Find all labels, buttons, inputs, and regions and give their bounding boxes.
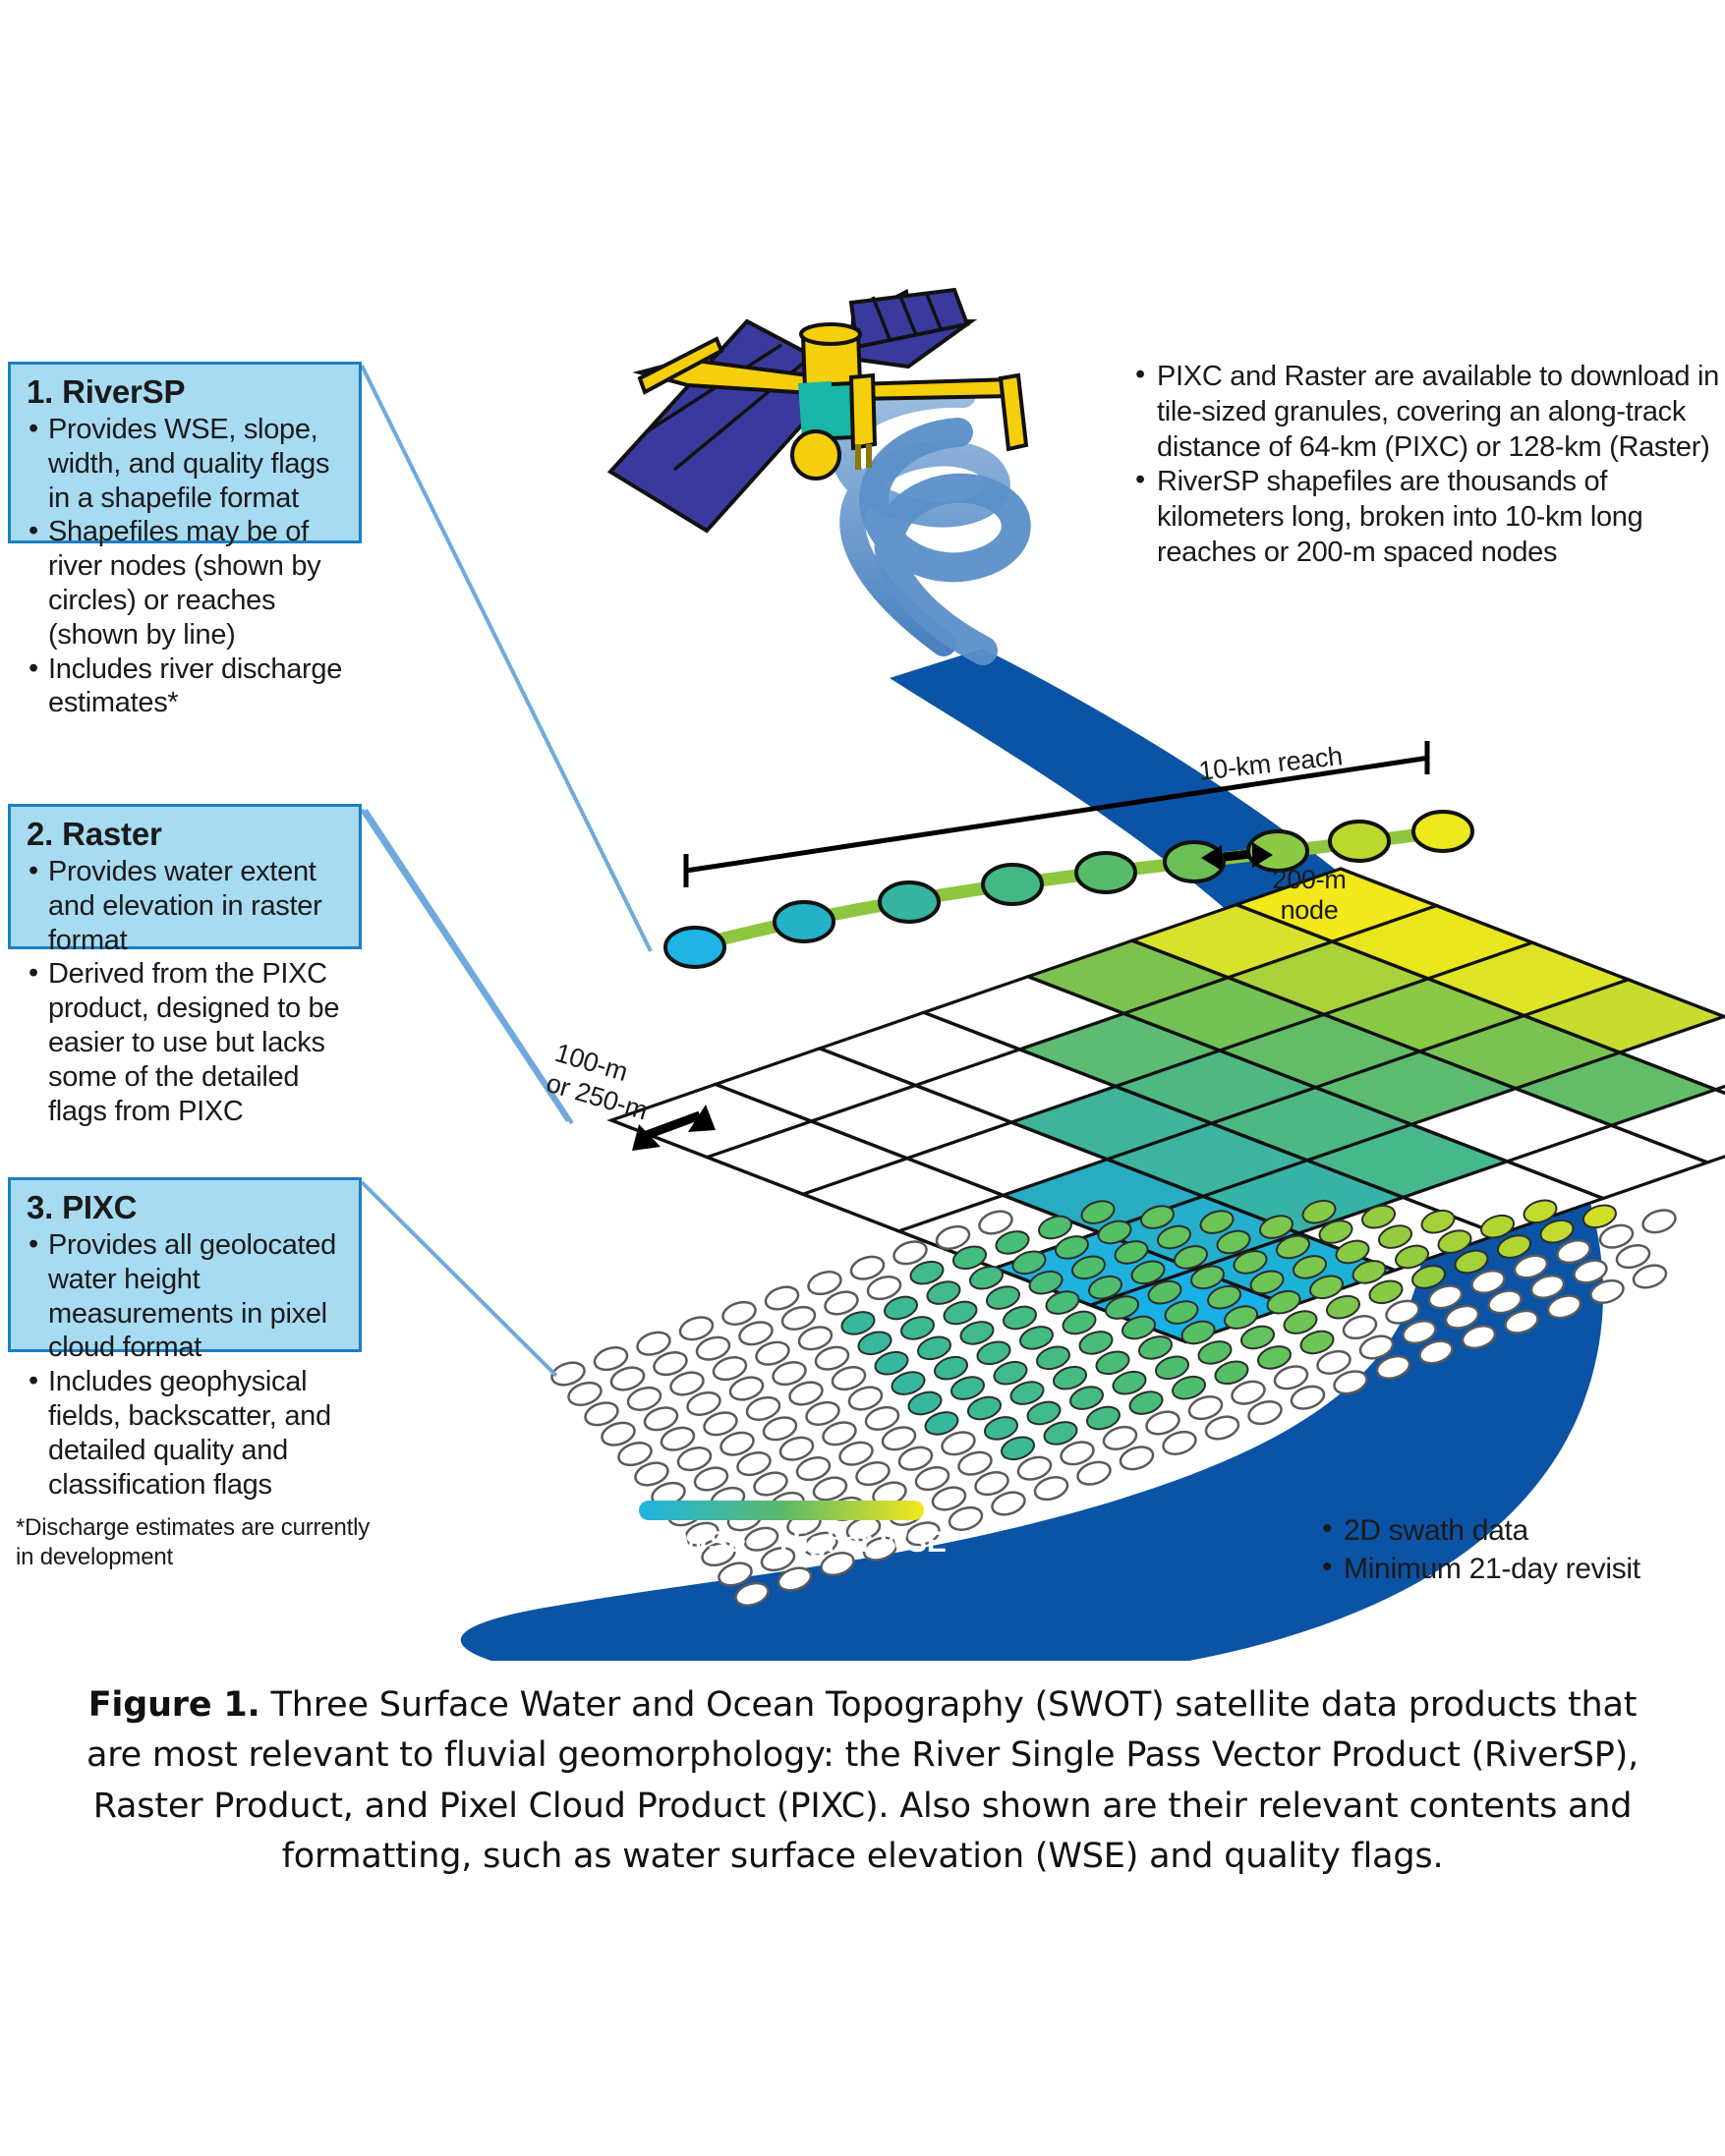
pixc-pixel xyxy=(1170,1373,1208,1402)
pixc-pixel xyxy=(1512,1252,1550,1281)
callout-bullets-raster: Provides water extent and elevation in r… xyxy=(27,855,345,1128)
list-item: Provides all geolocated water height mea… xyxy=(27,1228,345,1365)
pixc-pixel xyxy=(592,1343,630,1373)
pixc-pixel xyxy=(1274,1232,1312,1262)
pixc-pixel xyxy=(1025,1398,1064,1428)
pixc-pixel xyxy=(873,1348,911,1378)
pixc-pixel xyxy=(990,1489,1028,1518)
pixc-pixel xyxy=(1453,1247,1491,1277)
pixc-pixel xyxy=(1486,1287,1524,1317)
pixc-pixel xyxy=(1401,1317,1439,1346)
pixc-pixel xyxy=(1341,1312,1379,1341)
pixc-pixel xyxy=(1034,1343,1072,1373)
swot-satellite-icon xyxy=(610,290,1026,531)
pixc-pixel xyxy=(880,1424,918,1453)
callout-box-riversp: 1. RiverSP Provides WSE, slope, width, a… xyxy=(8,362,362,543)
pixc-pixel xyxy=(949,1373,987,1402)
pixc-pixel xyxy=(839,1308,878,1337)
callout-box-pixc: 3. PIXC Provides all geolocated water he… xyxy=(8,1177,362,1352)
pixc-pixel xyxy=(616,1439,655,1468)
pixc-pixel xyxy=(1079,1197,1118,1226)
pixc-pixel xyxy=(625,1384,663,1413)
pixc-pixel xyxy=(752,1469,790,1499)
pixc-pixel xyxy=(1614,1241,1652,1271)
pixc-pixel xyxy=(1324,1292,1362,1322)
pixc-pixel xyxy=(1332,1368,1370,1397)
pixc-pixel xyxy=(1138,1202,1177,1231)
pixc-pixel xyxy=(1248,1268,1287,1297)
pixc-pixel xyxy=(958,1318,997,1347)
pixc-pixel xyxy=(737,1319,776,1348)
pixc-pixel xyxy=(1443,1302,1481,1332)
callout-title-pixc: 3. PIXC xyxy=(27,1190,345,1226)
pixc-pixel xyxy=(1094,1348,1132,1378)
pixc-pixel xyxy=(1203,1413,1241,1443)
callout-box-raster: 2. Raster Provides water extent and elev… xyxy=(8,804,362,949)
pixc-pixel xyxy=(908,1258,947,1287)
list-item: PIXC and Raster are available to downloa… xyxy=(1135,360,1725,465)
pixc-pixel xyxy=(1409,1262,1448,1291)
callout-title-riversp: 1. RiverSP xyxy=(27,374,345,411)
pixc-pixel xyxy=(1120,1313,1158,1342)
pixc-pixel xyxy=(633,1459,671,1489)
pixc-pixel xyxy=(1067,1383,1106,1412)
list-item: RiverSP shapefiles are thousands of kilo… xyxy=(1135,465,1725,570)
pixc-pixel xyxy=(1265,1287,1303,1317)
pixc-pixel xyxy=(1572,1257,1610,1286)
pixc-pixel xyxy=(923,1408,961,1438)
pixc-pixel xyxy=(1111,1368,1149,1397)
pixc-pixel xyxy=(675,1444,714,1473)
pixc-pixel xyxy=(967,1263,1006,1292)
pixc-pixel xyxy=(1538,1217,1577,1246)
pixc-pixel xyxy=(1213,1358,1251,1388)
pixc-pixel xyxy=(742,1524,780,1554)
reach-length-label: 10-km reach xyxy=(1197,741,1344,787)
pixc-pixel xyxy=(888,1499,926,1528)
pixc-pixel xyxy=(711,1353,749,1383)
pixc-pixel xyxy=(950,1243,989,1273)
pixc-pixel xyxy=(549,1359,588,1389)
pixc-pixel xyxy=(947,1504,985,1533)
callout-title-raster: 2. Raster xyxy=(27,817,345,853)
pixc-pixel xyxy=(719,1429,757,1458)
pixc-pixel xyxy=(635,1329,673,1358)
pixc-pixel xyxy=(940,1429,978,1458)
pixc-pixel xyxy=(823,1288,861,1318)
pixc-pixel xyxy=(685,1389,723,1418)
pixc-pixel xyxy=(999,1434,1037,1463)
pixc-pixel xyxy=(668,1369,707,1398)
pixc-pixel xyxy=(763,1283,801,1313)
pixc-pixel xyxy=(1075,1458,1114,1488)
pixc-pixel xyxy=(1086,1273,1124,1302)
pixc-pixel xyxy=(1436,1226,1474,1256)
pixc-pixel xyxy=(992,1358,1030,1388)
pixc-pixel xyxy=(666,1500,705,1529)
pixc-pixel xyxy=(811,1474,849,1504)
figure-caption-label: Figure 1. xyxy=(88,1685,260,1725)
pixc-pixel xyxy=(1503,1307,1541,1336)
pixc-pixel xyxy=(1417,1337,1456,1367)
pixc-pixel xyxy=(906,1389,945,1418)
pixc-pixel xyxy=(1113,1237,1151,1267)
raster-grid xyxy=(611,869,1725,1342)
pixc-pixel xyxy=(1129,1258,1168,1287)
pixc-pixel xyxy=(1044,1287,1082,1317)
pixc-pixel xyxy=(1010,1248,1049,1277)
pixc-pixel xyxy=(1640,1207,1679,1236)
pixc-pixel xyxy=(1179,1318,1218,1347)
pixc-pixel xyxy=(692,1464,730,1494)
list-item: Includes geophysical fields, backscatter… xyxy=(27,1365,345,1502)
pixc-pixel xyxy=(1059,1439,1097,1468)
pixc-pixel xyxy=(566,1379,604,1408)
pixc-pixel xyxy=(583,1399,621,1429)
pixc-pixel xyxy=(787,1379,826,1408)
list-item: Shapefiles may be of river nodes (shown … xyxy=(27,515,345,652)
pixc-pixel xyxy=(942,1298,980,1328)
pixc-pixel xyxy=(956,1448,995,1478)
pixc-pixel xyxy=(1351,1257,1389,1286)
pixc-pixel xyxy=(930,1484,968,1513)
pixc-pixel xyxy=(744,1393,782,1423)
swath-info-text: 2D swath data Minimum 21-day revisit xyxy=(1322,1511,1715,1588)
pixc-pixel xyxy=(975,1338,1013,1368)
pixc-pixel xyxy=(1357,1333,1396,1362)
figure-caption: Figure 1. Three Surface Water and Ocean … xyxy=(59,1680,1666,1883)
pixc-pixel xyxy=(1032,1473,1070,1503)
pixc-pixel xyxy=(754,1338,792,1368)
pixc-pixel xyxy=(1172,1242,1210,1272)
pixc-pixel xyxy=(1528,1272,1567,1301)
pixc-pixel xyxy=(1282,1307,1320,1336)
pixc-pixel xyxy=(915,1333,953,1363)
node-spacing-label: 200-m node xyxy=(1250,865,1368,927)
callout-bullets-pixc: Provides all geolocated water height mea… xyxy=(27,1228,345,1502)
pixc-pixel xyxy=(1153,1353,1191,1383)
pixc-pixel xyxy=(1522,1197,1560,1226)
pixc-pixel xyxy=(1015,1453,1054,1483)
pixc-pixel xyxy=(1631,1262,1669,1291)
pixc-pixel xyxy=(717,1560,755,1589)
pixc-pixel xyxy=(1588,1277,1627,1306)
pixc-pixel xyxy=(1307,1273,1346,1302)
pixc-pixel xyxy=(1393,1242,1431,1272)
pixc-pixel xyxy=(777,1434,816,1463)
pixc-pixel xyxy=(865,1273,903,1302)
pixc-pixel xyxy=(1186,1392,1225,1422)
pixc-pixel xyxy=(1008,1378,1047,1407)
pixc-pixel xyxy=(1376,1221,1414,1251)
pixc-pixel xyxy=(882,1293,920,1323)
pixc-pixel xyxy=(733,1579,772,1609)
pixc-pixel xyxy=(1257,1212,1295,1241)
wse-colorbar xyxy=(639,1501,924,1520)
pixc-pixel xyxy=(1053,1232,1091,1262)
pixc-pixel xyxy=(1205,1282,1243,1312)
figure-caption-text: Three Surface Water and Ocean Topography… xyxy=(86,1685,1639,1876)
pixc-pixel xyxy=(1317,1217,1355,1246)
pixc-pixel xyxy=(1419,1207,1458,1236)
pixc-pixel xyxy=(1298,1328,1337,1357)
pixc-pixel xyxy=(776,1564,814,1594)
pixc-pixel xyxy=(1597,1221,1636,1251)
pixc-pixel xyxy=(1127,1388,1166,1417)
pixc-pixel xyxy=(1096,1218,1134,1247)
list-item: 2D swath data xyxy=(1322,1511,1715,1550)
pixc-pixel xyxy=(1315,1347,1353,1377)
pixc-pixel xyxy=(1198,1207,1236,1236)
pixc-pixel xyxy=(1051,1363,1089,1392)
legend-label-lower-wse: Lower WSE xyxy=(587,1526,747,1560)
pixc-pixel xyxy=(932,1353,970,1383)
pixc-pixel xyxy=(796,1324,834,1353)
pixc-pixel xyxy=(1069,1253,1108,1282)
pixc-pixel xyxy=(1334,1237,1372,1267)
pixc-pixel xyxy=(779,1303,818,1333)
pixc-pixel xyxy=(830,1363,868,1392)
pixc-pixel xyxy=(1374,1352,1412,1382)
pixc-pixel xyxy=(1246,1397,1285,1427)
pixc-pixel xyxy=(694,1333,732,1363)
pixc-pixel xyxy=(608,1364,647,1393)
pixc-pixel xyxy=(863,1403,901,1433)
pixc-pixel xyxy=(1384,1297,1422,1327)
pixc-pixel xyxy=(1230,1378,1268,1407)
pixc-pixel xyxy=(1460,1322,1498,1351)
pixc-pixel xyxy=(828,1494,866,1523)
pixc-pixel xyxy=(1161,1428,1199,1457)
pixc-pixel xyxy=(1084,1403,1122,1433)
pixc-pixel xyxy=(761,1414,799,1444)
pixc-pixel xyxy=(1426,1282,1465,1312)
pixc-pixel xyxy=(1027,1268,1065,1297)
pixc-pixel xyxy=(1215,1227,1253,1257)
pixc-pixel xyxy=(804,1398,842,1428)
node-spacing-unit: node xyxy=(1250,895,1368,926)
pixc-pixel xyxy=(1163,1297,1201,1327)
discharge-footnote: *Discharge estimates are currently in de… xyxy=(16,1513,370,1572)
pixc-pixel xyxy=(994,1227,1032,1257)
pixc-pixel xyxy=(977,1208,1015,1237)
pixc-pixel xyxy=(720,1298,759,1328)
pixc-pixel xyxy=(934,1222,972,1252)
pixc-pixel xyxy=(642,1404,680,1434)
pixc-pixel xyxy=(1017,1323,1056,1352)
river-light-band xyxy=(843,395,1016,651)
pixc-pixel xyxy=(1155,1222,1193,1252)
pixc-pixel xyxy=(856,1329,894,1358)
pixc-pixel xyxy=(1188,1263,1227,1292)
pixc-pixel xyxy=(1555,1236,1593,1266)
pixc-pixel xyxy=(1300,1197,1339,1226)
pixc-pixel xyxy=(650,1479,688,1508)
pixc-pixel xyxy=(1545,1292,1583,1322)
pixc-pixel xyxy=(1103,1292,1141,1322)
pixc-pixel xyxy=(1001,1303,1039,1333)
pixc-pixel xyxy=(854,1458,892,1488)
pixc-pixel xyxy=(1222,1302,1260,1332)
pixc-pixel xyxy=(837,1439,876,1468)
pixc-pixel xyxy=(891,1238,930,1268)
pixc-pixel xyxy=(702,1409,740,1439)
pixc-pixel xyxy=(925,1277,963,1307)
legend-label-higher-wse: Higher WSE xyxy=(779,1526,947,1560)
pixc-pixel xyxy=(813,1343,851,1373)
pixc-pixel xyxy=(1146,1277,1184,1307)
pixc-pixel xyxy=(1359,1202,1398,1231)
pixc-pixel xyxy=(1289,1383,1327,1412)
pixc-pixel xyxy=(1238,1323,1277,1352)
list-item: Derived from the PIXC product, designed … xyxy=(27,957,345,1128)
pixc-pixel xyxy=(913,1463,951,1493)
pixc-pixel xyxy=(806,1268,844,1297)
list-item: Provides water extent and elevation in r… xyxy=(27,855,345,957)
pixc-pixel xyxy=(896,1444,935,1473)
pixc-pixel xyxy=(848,1253,887,1282)
pixc-pixel xyxy=(1469,1267,1508,1296)
pixc-pixel xyxy=(652,1348,690,1378)
pixc-pixel xyxy=(898,1313,937,1342)
pixc-pixel xyxy=(727,1374,766,1403)
pixc-pixel xyxy=(600,1419,638,1448)
pixc-pixel xyxy=(1036,1213,1074,1242)
list-item: Includes river discharge estimates* xyxy=(27,652,345,721)
pixc-pixel xyxy=(1077,1328,1116,1357)
pixc-pixel xyxy=(1495,1231,1533,1261)
callout-connectors xyxy=(362,366,651,1376)
list-item: Provides WSE, slope, width, and quality … xyxy=(27,413,345,515)
pixc-pixel xyxy=(794,1453,833,1483)
pixc-pixel xyxy=(965,1393,1004,1423)
pixc-pixel xyxy=(984,1282,1022,1312)
granule-info-text: PIXC and Raster are available to downloa… xyxy=(1135,360,1725,571)
pixc-pixel xyxy=(1478,1212,1517,1241)
pixc-pixel xyxy=(1061,1308,1099,1337)
pixc-pixel xyxy=(769,1489,807,1518)
list-item: Minimum 21-day revisit xyxy=(1322,1550,1715,1588)
pixc-pixel xyxy=(1367,1277,1406,1307)
pixc-pixel xyxy=(677,1314,716,1343)
pixc-pixel xyxy=(982,1413,1020,1443)
pixc-pixel xyxy=(1144,1408,1182,1438)
pixc-pixel xyxy=(1196,1337,1235,1367)
pixc-pixel xyxy=(1255,1342,1294,1372)
pixc-pixel xyxy=(871,1479,909,1508)
node-spacing-value: 200-m xyxy=(1250,865,1368,895)
pixc-pixel xyxy=(1101,1423,1139,1452)
raster-resolution-label: 100-m or 250-m xyxy=(543,1038,660,1127)
pixc-pixel xyxy=(735,1448,774,1478)
pixc-pixel xyxy=(821,1419,859,1448)
pixc-pixel xyxy=(771,1358,809,1388)
pixc-pixel xyxy=(1136,1333,1175,1362)
pixc-pixel xyxy=(1272,1363,1310,1392)
pixc-pixel xyxy=(659,1424,697,1453)
pixc-pixel xyxy=(1291,1252,1329,1281)
pixc-pixel xyxy=(709,1484,747,1513)
river-dark-band xyxy=(461,649,1603,1661)
pixc-pixel xyxy=(890,1368,928,1397)
pixc-pixel xyxy=(973,1468,1011,1498)
callout-bullets-riversp: Provides WSE, slope, width, and quality … xyxy=(27,413,345,720)
pixc-pixel xyxy=(1232,1247,1270,1277)
pixc-pixel xyxy=(1042,1418,1080,1447)
pixc-pixel xyxy=(1581,1202,1619,1231)
pixc-pixel xyxy=(846,1384,885,1413)
pixc-pixel xyxy=(1118,1444,1156,1473)
